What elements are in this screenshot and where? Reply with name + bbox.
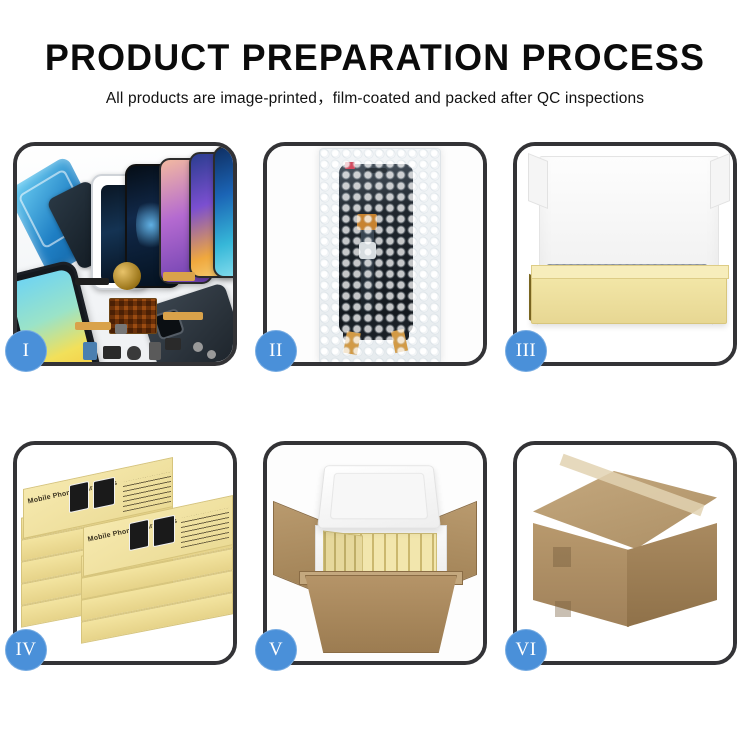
box-stack: Mobile Phone Spare Parts Mobile Phone Sp… [19, 463, 233, 653]
step-image-parts-collage [17, 146, 233, 362]
step-image-bubble-wrapped-screen [267, 146, 483, 362]
step-panel-1: I [13, 142, 237, 366]
yellow-box-tray [531, 274, 727, 324]
page-subtitle: All products are image-printed，film-coat… [0, 82, 750, 109]
small-part-3 [127, 346, 141, 360]
flex-cable-4 [163, 312, 203, 320]
carton-marking-1 [553, 547, 571, 567]
wrapped-lcd-assembly [339, 164, 413, 334]
driver-ic [359, 242, 376, 259]
foam-box-lid [317, 465, 441, 528]
steps-grid: I II [13, 142, 739, 665]
flex-cable-3 [75, 322, 111, 330]
flex-cable-1 [75, 278, 109, 285]
phone-screen-5 [213, 146, 233, 278]
product-preparation-infographic: PRODUCT PREPARATION PROCESS All products… [0, 0, 750, 750]
step-panel-5: V [263, 441, 487, 665]
red-label-tab [345, 162, 355, 169]
carton-body [305, 575, 457, 653]
step-image-sealed-carton [517, 445, 733, 661]
step-badge-4: IV [5, 629, 47, 671]
box-art-screen-2 [93, 477, 115, 510]
small-part-1 [83, 342, 97, 360]
step-panel-4: Mobile Phone Spare Parts Mobile Phone Sp… [13, 441, 237, 665]
tape-patch-top [357, 214, 377, 230]
box-art-screen-1 [69, 481, 89, 513]
small-part-6 [115, 324, 127, 334]
carton-marking-2 [555, 601, 571, 617]
small-part-2 [103, 346, 121, 359]
header: PRODUCT PREPARATION PROCESS All products… [0, 0, 750, 109]
step-badge-1: I [5, 330, 47, 372]
step-panel-6: VI [513, 441, 737, 665]
step-badge-6: VI [505, 629, 547, 671]
step-image-foam-lined-box [517, 146, 733, 362]
step-panel-3: III [513, 142, 737, 366]
small-part-4 [149, 342, 161, 360]
step-badge-2: II [255, 330, 297, 372]
page-title: PRODUCT PREPARATION PROCESS [11, 0, 739, 82]
step-badge-3: III [505, 330, 547, 372]
screw-part-1 [193, 342, 203, 352]
step-image-carton-with-foam-box [267, 445, 483, 661]
step-image-stacked-boxes: Mobile Phone Spare Parts Mobile Phone Sp… [17, 445, 233, 661]
step-panel-2: II [263, 142, 487, 366]
step-badge-5: V [255, 629, 297, 671]
small-part-5 [165, 338, 181, 350]
box-art-screen-4 [153, 515, 175, 548]
screw-part-2 [207, 350, 216, 359]
flex-ribbon-cable [361, 224, 374, 320]
speaker-coil-part [113, 262, 141, 290]
box-art-screen-3 [129, 519, 149, 551]
flex-cable-2 [163, 272, 195, 281]
